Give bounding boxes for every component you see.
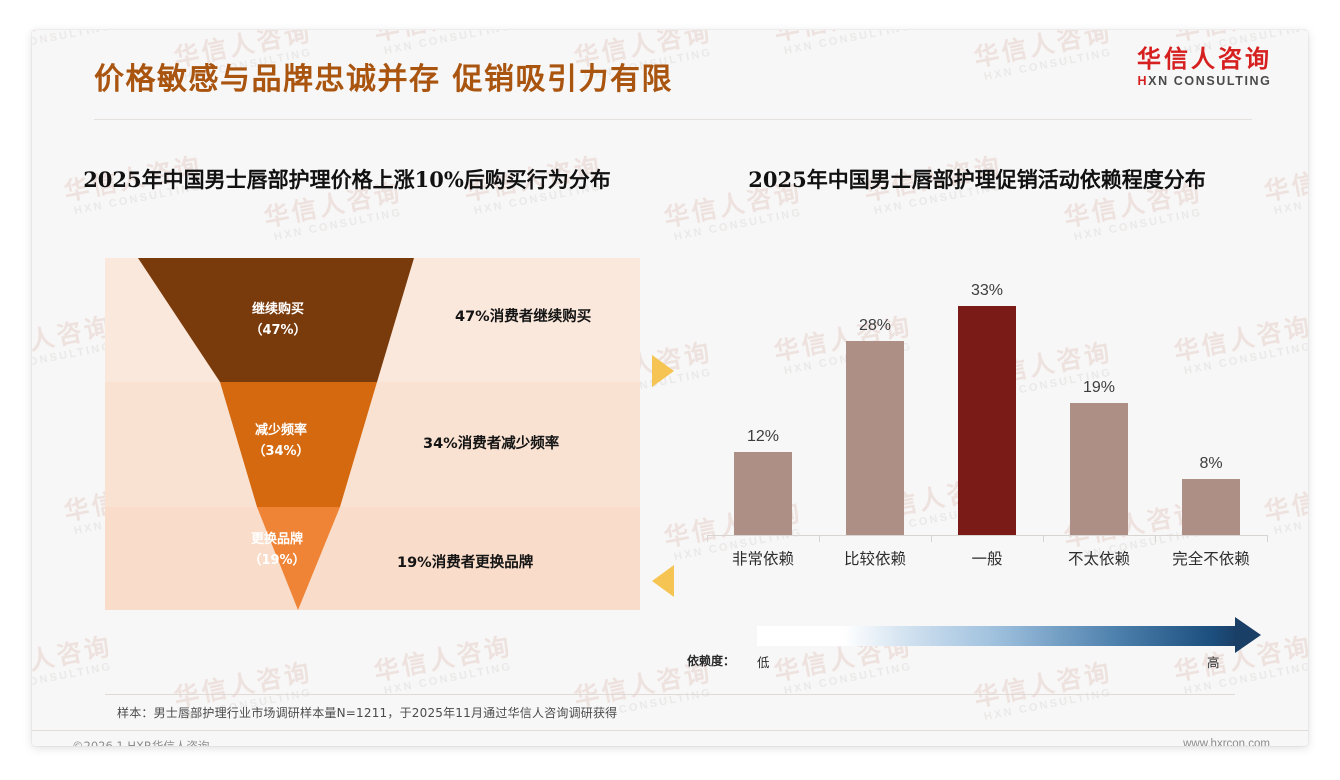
bar-rect-非常依赖[interactable]: [734, 452, 792, 535]
funnel-label-0-value: （47%）: [249, 322, 306, 338]
brand-logo: 华信人咨询 HXN CONSULTING: [1137, 46, 1272, 88]
legend-title: 依赖度：: [687, 652, 735, 669]
funnel-annotation-0: 47%消费者继续购买: [455, 305, 591, 326]
page-title: 价格敏感与品牌忠诚并存 促销吸引力有限: [94, 54, 673, 98]
dependency-gradient-legend: 依赖度： 低 高: [687, 618, 1287, 676]
footnote-divider: [105, 694, 1235, 695]
logo-english-text: HXN CONSULTING: [1137, 75, 1272, 88]
bar-category-label-比较依赖: 比较依赖: [819, 547, 931, 569]
header-divider: [94, 119, 1252, 120]
axis-tick: [819, 535, 820, 542]
axis-tick: [707, 535, 708, 542]
funnel-label-1-name: 减少频率: [255, 422, 307, 438]
funnel-chart: 继续购买 （47%） 减少频率 （34%） 更换品牌 （19%） 47%消费者继…: [105, 258, 640, 610]
bar-category-label-完全不依赖: 完全不依赖: [1155, 547, 1267, 569]
bar-rect-不太依赖[interactable]: [1070, 403, 1128, 535]
bar-value-label: 19%: [1043, 379, 1155, 397]
dependency-bar-chart: 12%28%33%19%8% 非常依赖比较依赖一般不太依赖完全不依赖: [687, 285, 1287, 615]
slide-header: 价格敏感与品牌忠诚并存 促销吸引力有限 华信人咨询 HXN CONSULTING: [32, 30, 1308, 120]
gradient-arrow-head-icon: [1235, 617, 1261, 653]
funnel-segment-continue: [138, 258, 414, 382]
logo-h-letter: H: [1138, 74, 1149, 88]
watermark-text: 华信人咨询HXN CONSULTING: [32, 633, 117, 698]
play-left-triangle-icon: [652, 565, 674, 597]
bar-value-label: 8%: [1155, 455, 1267, 473]
bar-column[interactable]: 19%: [1043, 285, 1155, 535]
funnel-annotation-1: 34%消费者减少频率: [423, 432, 559, 453]
bar-value-label: 12%: [707, 428, 819, 446]
bar-column[interactable]: 33%: [931, 285, 1043, 535]
funnel-annotation-2: 19%消费者更换品牌: [397, 551, 533, 572]
bar-category-label-非常依赖: 非常依赖: [707, 547, 819, 569]
bar-column[interactable]: 8%: [1155, 285, 1267, 535]
play-right-triangle-icon: [652, 355, 674, 387]
footnote-text: 样本：男士唇部护理行业市场调研样本量N=1211，于2025年11月通过华信人咨…: [117, 704, 617, 721]
axis-tick: [1043, 535, 1044, 542]
axis-tick: [1155, 535, 1156, 542]
slide-canvas: 华信人咨询HXN CONSULTING华信人咨询HXN CONSULTING华信…: [32, 30, 1308, 746]
bar-axis-line: [707, 535, 1267, 536]
axis-tick: [931, 535, 932, 542]
gradient-bar: [757, 626, 1237, 646]
funnel-label-2-name: 更换品牌: [251, 531, 303, 547]
bar-value-label: 28%: [819, 317, 931, 335]
bar-category-label-一般: 一般: [931, 547, 1043, 569]
funnel-label-1-value: （34%）: [252, 443, 309, 459]
bar-column[interactable]: 28%: [819, 285, 931, 535]
bar-rect-完全不依赖[interactable]: [1182, 479, 1240, 535]
bar-value-label: 33%: [931, 282, 1043, 300]
logo-chinese-text: 华信人咨询: [1137, 46, 1272, 72]
bar-rect-一般[interactable]: [958, 306, 1016, 535]
footer-website: www.hxrcon.com: [1183, 738, 1270, 746]
funnel-label-2-value: （19%）: [248, 552, 305, 568]
axis-tick: [1267, 535, 1268, 542]
watermark-text: 华信人咨询HXN CONSULTING: [372, 633, 517, 698]
legend-low-label: 低: [757, 652, 770, 671]
bar-column[interactable]: 12%: [707, 285, 819, 535]
footer-divider: [32, 730, 1308, 731]
legend-high-label: 高: [1207, 652, 1220, 671]
bar-rect-比较依赖[interactable]: [846, 341, 904, 535]
bar-plot-area: 12%28%33%19%8%: [707, 285, 1267, 535]
footer-copyright: ©2026.1 HXR华信人咨询: [72, 738, 209, 746]
funnel-label-0-name: 继续购买: [252, 301, 304, 317]
right-chart-title: 2025年中国男士唇部护理促销活动依赖程度分布: [672, 165, 1282, 195]
left-chart-title: 2025年中国男士唇部护理价格上涨10%后购买行为分布: [52, 165, 642, 195]
logo-en-rest: XN CONSULTING: [1148, 74, 1271, 88]
bar-category-label-不太依赖: 不太依赖: [1043, 547, 1155, 569]
